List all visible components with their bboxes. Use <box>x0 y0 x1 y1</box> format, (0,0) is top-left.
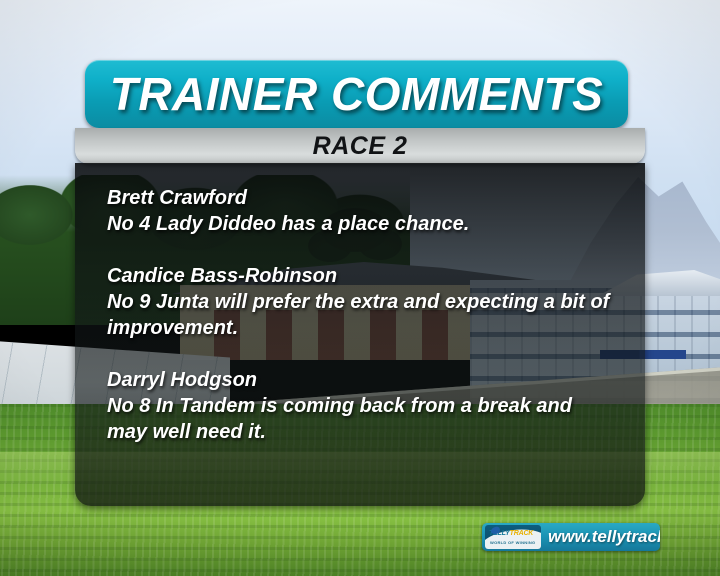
tellytrack-logo-icon: TELLYTRACK WORLD OF WINNING <box>485 525 541 549</box>
trainer-name: Candice Bass-Robinson <box>107 263 619 289</box>
broadcast-graphic-overlay: TRAINER COMMENTS RACE 2 Brett Crawford N… <box>0 0 720 576</box>
trainer-name: Brett Crawford <box>107 185 619 211</box>
race-label: RACE 2 <box>313 132 408 161</box>
trainer-comment: No 4 Lady Diddeo has a place chance. <box>107 211 612 237</box>
trainer-comment: No 9 Junta will prefer the extra and exp… <box>107 289 612 341</box>
comment-entry: Candice Bass-Robinson No 9 Junta will pr… <box>107 263 619 341</box>
trainer-comment: No 8 In Tandem is coming back from a bre… <box>107 393 612 445</box>
comments-panel: Brett Crawford No 4 Lady Diddeo has a pl… <box>75 163 645 506</box>
title-bar: TRAINER COMMENTS <box>85 60 628 128</box>
website-url: www.tellytrack.com <box>548 527 660 547</box>
comment-entry: Darryl Hodgson No 8 In Tandem is coming … <box>107 367 619 445</box>
logo-word-2: TRACK <box>510 530 534 537</box>
comment-entry: Brett Crawford No 4 Lady Diddeo has a pl… <box>107 185 619 237</box>
race-bar: RACE 2 <box>75 128 645 164</box>
page-title: TRAINER COMMENTS <box>110 67 604 121</box>
tellytrack-banner: TELLYTRACK WORLD OF WINNING www.tellytra… <box>482 523 660 551</box>
logo-tagline: WORLD OF WINNING <box>490 540 535 545</box>
trainer-name: Darryl Hodgson <box>107 367 619 393</box>
